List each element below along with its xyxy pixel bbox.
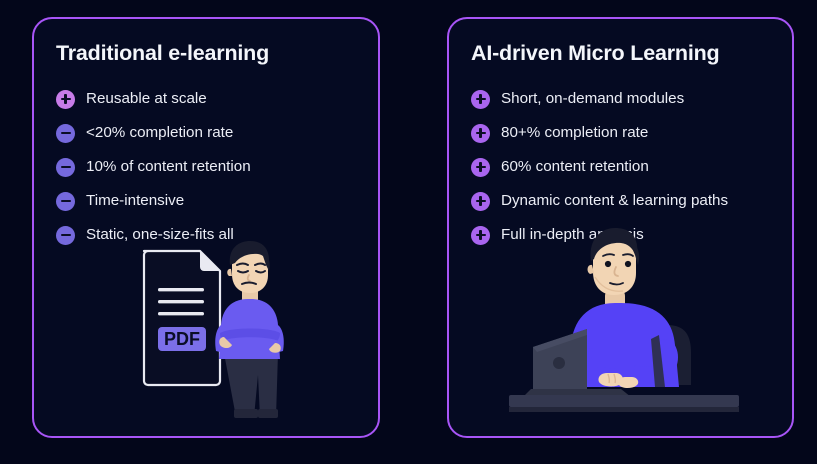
list-item-label: Dynamic content & learning paths: [501, 193, 728, 208]
bullet-list-traditional: Reusable at scale <20% completion rate 1…: [56, 82, 368, 252]
list-item: 60% content retention: [471, 150, 782, 184]
list-item-label: 80+% completion rate: [501, 125, 648, 140]
minus-circle-icon: [56, 158, 75, 177]
list-item: Short, on-demand modules: [471, 82, 782, 116]
list-item-label: Time-intensive: [86, 193, 184, 208]
list-item-label: Short, on-demand modules: [501, 91, 684, 106]
list-item: <20% completion rate: [56, 116, 368, 150]
list-item: 80+% completion rate: [471, 116, 782, 150]
plus-circle-icon: [471, 124, 490, 143]
plus-circle-icon: [471, 90, 490, 109]
person-figure: [215, 241, 284, 418]
list-item-label: Reusable at scale: [86, 91, 207, 106]
minus-circle-icon: [56, 124, 75, 143]
comparison-slide: Traditional e-learning Reusable at scale…: [0, 0, 817, 464]
card-title-traditional: Traditional e-learning: [56, 41, 269, 66]
plus-circle-icon: [471, 158, 490, 177]
list-item-label: 10% of content retention: [86, 159, 251, 174]
card-ai-driven-micro-learning: AI-driven Micro Learning Short, on-deman…: [447, 17, 794, 438]
list-item: Dynamic content & learning paths: [471, 184, 782, 218]
list-item: 10% of content retention: [56, 150, 368, 184]
pdf-document-icon: PDF: [144, 251, 220, 385]
minus-circle-icon: [56, 192, 75, 211]
list-item-label: 60% content retention: [501, 159, 649, 174]
illustration-person-with-pdf-document: PDF: [138, 241, 298, 426]
illustration-person-working-on-laptop: [509, 227, 739, 422]
list-item-label: <20% completion rate: [86, 125, 233, 140]
pdf-badge-label: PDF: [164, 329, 200, 349]
plus-circle-icon: [471, 192, 490, 211]
plus-circle-icon: [471, 226, 490, 245]
plus-circle-icon: [56, 90, 75, 109]
list-item: Time-intensive: [56, 184, 368, 218]
card-title-ai-driven: AI-driven Micro Learning: [471, 41, 719, 66]
list-item: Reusable at scale: [56, 82, 368, 116]
minus-circle-icon: [56, 226, 75, 245]
card-traditional-elearning: Traditional e-learning Reusable at scale…: [32, 17, 380, 438]
